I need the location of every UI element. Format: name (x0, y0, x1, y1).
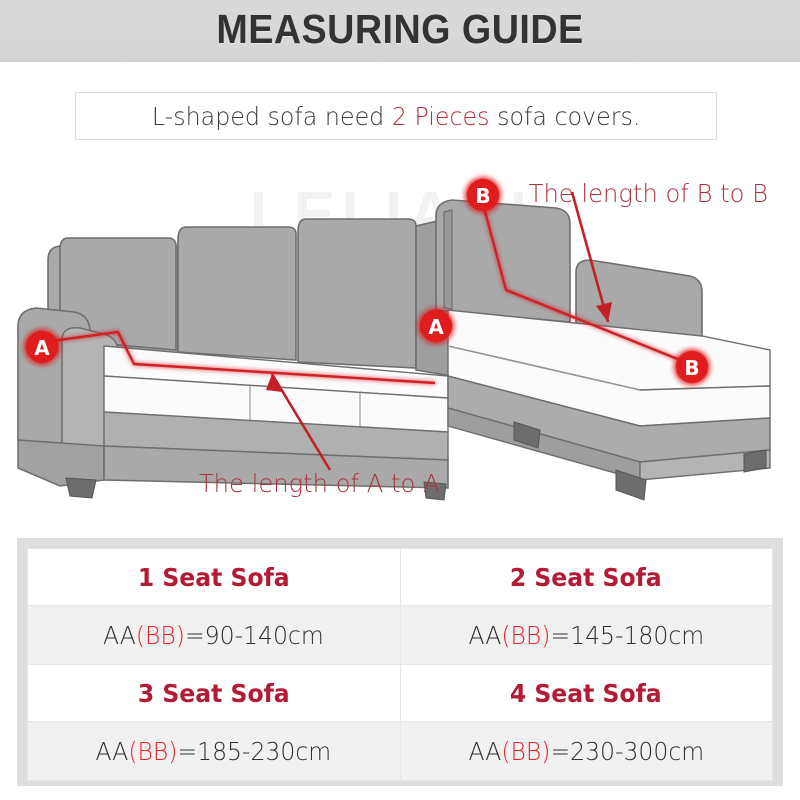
marker-b-top-label: B (475, 184, 490, 208)
table-row: 3 Seat Sofa 4 Seat Sofa (28, 665, 773, 722)
seat-label-3: 3 Seat Sofa (138, 679, 290, 708)
seat-label-2: 2 Seat Sofa (510, 563, 662, 592)
range-token: =185-230cm (178, 737, 332, 766)
bb-token: (BB) (136, 621, 185, 650)
subtitle-box: L-shaped sofa need 2 Pieces sofa covers. (75, 92, 717, 140)
back-cushion-2 (178, 227, 296, 360)
table-cell-header: 2 Seat Sofa (400, 549, 773, 606)
marker-a-left: A (26, 331, 58, 363)
marker-a-right: A (420, 310, 452, 342)
measure-value-1: AA(BB)=90-140cm (103, 621, 324, 650)
table-cell-value: AA(BB)=230-300cm (400, 722, 773, 781)
table-cell-header: 4 Seat Sofa (400, 665, 773, 722)
aa-token: AA (96, 737, 129, 766)
bb-token: (BB) (501, 621, 550, 650)
subtitle-text: L-shaped sofa need 2 Pieces sofa covers. (152, 102, 641, 131)
sofa-foot (66, 478, 96, 498)
table-row: AA(BB)=185-230cm AA(BB)=230-300cm (28, 722, 773, 781)
table-cell-value: AA(BB)=185-230cm (28, 722, 401, 781)
marker-a-right-label: A (428, 315, 444, 339)
marker-b-bottom-label: B (684, 356, 699, 380)
range-token: =90-140cm (185, 621, 324, 650)
table-cell-header: 3 Seat Sofa (28, 665, 401, 722)
label-b-to-b: The length of B to B (529, 179, 768, 208)
subtitle-accent: 2 Pieces (392, 102, 490, 131)
back-cushion-3 (298, 219, 416, 368)
page-title: MEASURING GUIDE (32, 6, 768, 53)
table-cell-header: 1 Seat Sofa (28, 549, 401, 606)
bb-token: (BB) (129, 737, 178, 766)
subtitle-suffix: sofa covers. (489, 102, 640, 131)
seat-label-1: 1 Seat Sofa (138, 563, 290, 592)
measure-value-4: AA(BB)=230-300cm (468, 737, 704, 766)
measure-value-2: AA(BB)=145-180cm (468, 621, 704, 650)
subtitle-prefix: L-shaped sofa need (152, 102, 392, 131)
range-token: =230-300cm (550, 737, 704, 766)
marker-b-top: B (467, 179, 499, 211)
size-spec-table: 1 Seat Sofa 2 Seat Sofa AA(BB)=90-140cm … (17, 538, 783, 786)
aa-token: AA (468, 737, 501, 766)
aa-token: AA (103, 621, 136, 650)
sofa-foot (744, 450, 766, 472)
label-a-to-a: The length of A to A (199, 469, 440, 498)
marker-b-bottom: B (676, 351, 708, 383)
seat-label-4: 4 Seat Sofa (510, 679, 662, 708)
table-row: AA(BB)=90-140cm AA(BB)=145-180cm (28, 606, 773, 665)
measure-value-3: AA(BB)=185-230cm (96, 737, 332, 766)
sofa-illustration: LELIANI (0, 150, 800, 530)
table-cell-value: AA(BB)=90-140cm (28, 606, 401, 665)
right-chaise (436, 200, 770, 500)
aa-token: AA (468, 621, 501, 650)
marker-a-left-label: A (34, 336, 50, 360)
bb-token: (BB) (501, 737, 550, 766)
range-token: =145-180cm (550, 621, 704, 650)
table-cell-value: AA(BB)=145-180cm (400, 606, 773, 665)
table-row: 1 Seat Sofa 2 Seat Sofa (28, 549, 773, 606)
left-sofa (18, 219, 452, 500)
chaise-back-cushion (436, 200, 570, 322)
